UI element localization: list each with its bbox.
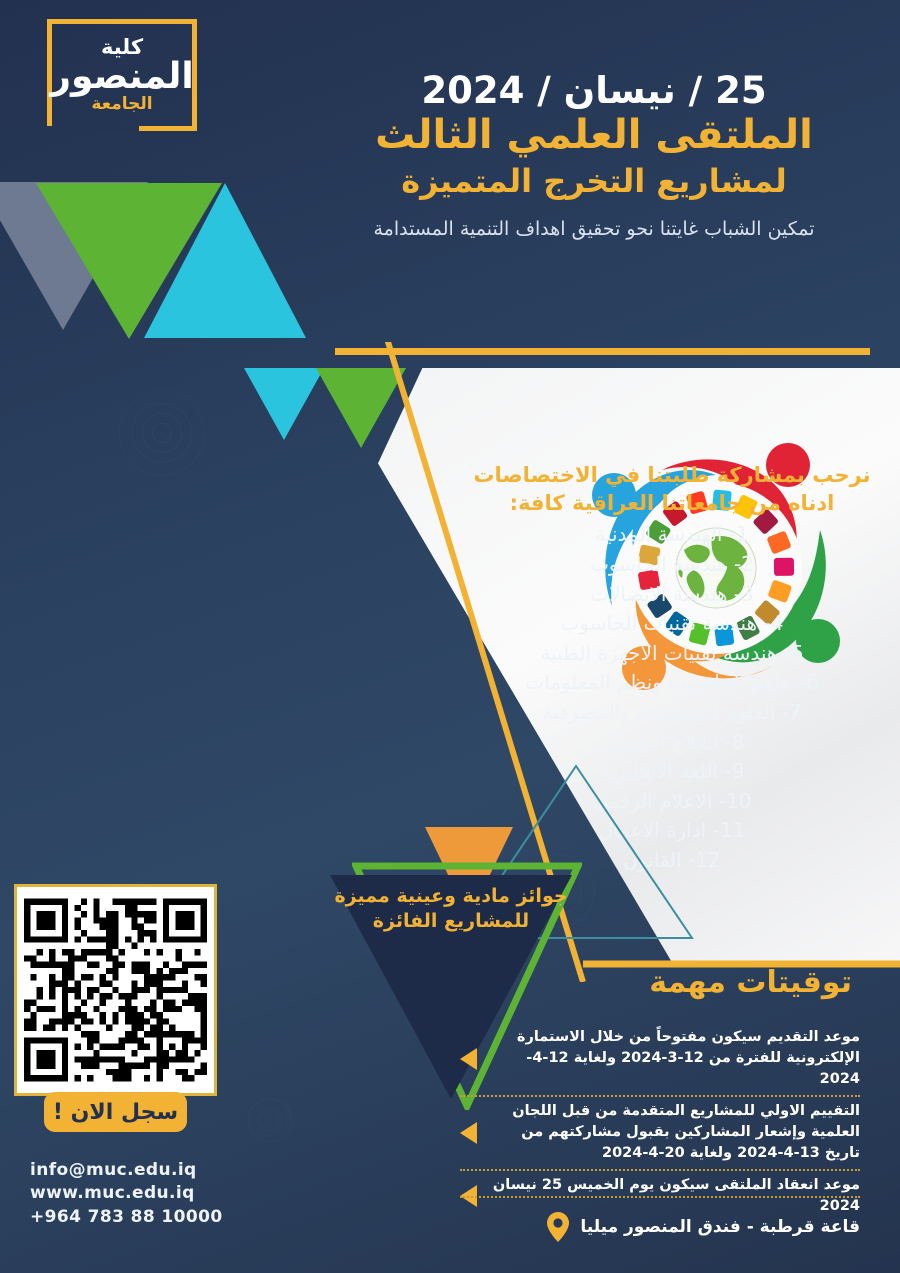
list-item: 3- هندسة الاتصالات <box>462 580 882 610</box>
venue-text: قاعة قرطبة - فندق المنصور ميليا <box>580 1217 860 1237</box>
conference-poster: كلية المنصور الجامعة 25 / نيسان / 2024 ا… <box>0 0 900 1273</box>
event-date: 25 / نيسان / 2024 <box>314 70 874 111</box>
logo-line-1: كلية <box>101 37 143 58</box>
page-subtitle: لمشاريع التخرج المتميزة <box>314 162 874 200</box>
list-item: 7- العلوم المحاسبية والمصرفية <box>462 698 882 728</box>
contact-block: info@muc.edu.iq www.muc.edu.iq +964 783 … <box>30 1159 260 1229</box>
prize-text: جوائز مادية وعينية مميزة للمشاريع الفائز… <box>330 876 572 935</box>
list-item: 8- العلاج الطبيعي <box>462 728 882 758</box>
list-item: 2- هندسة الحاسوب <box>462 550 882 580</box>
timing-text: موعد التقديم سيكون مفتوحاً من خلال الاست… <box>487 1027 860 1090</box>
list-item: 5- هندسة تقنيات الاجهزة الطبية <box>462 639 882 669</box>
page-title: الملتقى العلمي الثالث <box>314 112 874 159</box>
venue-block: قاعة قرطبة - فندق المنصور ميليا <box>546 1212 860 1242</box>
logo-line-2: المنصور <box>50 59 193 96</box>
cyan-triangle-1 <box>144 183 306 338</box>
event-slogan: تمكين الشباب غايتنا نحو تحقيق اهداف التن… <box>314 216 874 244</box>
timings-title: توقيتات مهمة <box>649 965 852 1000</box>
university-logo: كلية المنصور الجامعة <box>47 19 197 131</box>
cyan-triangle-2 <box>244 368 324 440</box>
specializations-heading: نرحب بمشاركة طلبتنا في الاختصاصات ادناه … <box>462 462 882 517</box>
location-pin-icon <box>546 1212 570 1242</box>
contact-website[interactable]: www.muc.edu.iq <box>30 1182 260 1205</box>
timings-list: موعد التقديم سيكون مفتوحاً من خلال الاست… <box>460 1023 860 1222</box>
logo-line-3: الجامعة <box>91 96 152 113</box>
qr-matrix <box>24 894 207 1086</box>
register-now-button[interactable]: سجل الان ! <box>44 1092 187 1132</box>
triangle-bullet-icon <box>460 1048 477 1070</box>
list-item: 1- الهندسة المدنية <box>462 520 882 550</box>
timing-text: التقييم الاولي للمشاريع المتقدمة من قبل … <box>487 1101 860 1164</box>
triangle-bullet-icon <box>460 1122 477 1144</box>
venue-divider <box>460 1196 860 1198</box>
timing-row: التقييم الاولي للمشاريع المتقدمة من قبل … <box>460 1095 860 1169</box>
header-divider <box>335 348 870 355</box>
list-item: 6- علوم الحاسوب ونظم المعلومات <box>462 668 882 698</box>
contact-phone[interactable]: +964 783 88 10000 <box>30 1206 260 1229</box>
contact-email[interactable]: info@muc.edu.iq <box>30 1159 260 1182</box>
qr-code-icon[interactable] <box>14 884 217 1096</box>
list-item: 4- هندسة تقنيات الحاسوب <box>462 609 882 639</box>
poster-header: 25 / نيسان / 2024 الملتقى العلمي الثالث … <box>314 70 874 244</box>
timing-row: موعد التقديم سيكون مفتوحاً من خلال الاست… <box>460 1023 860 1095</box>
